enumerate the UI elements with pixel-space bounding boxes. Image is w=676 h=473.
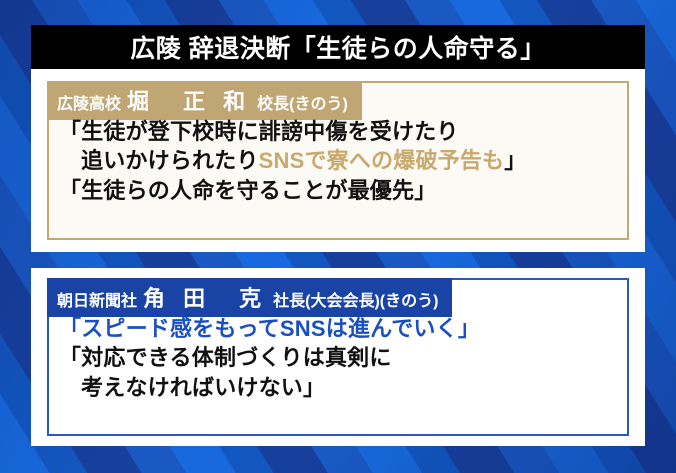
quote-line-plain: 追いかけられたり xyxy=(81,148,259,173)
news-graphic-screen: 広陵 辞退決断「生徒らの人命守る」 広陵高校 堀 正 和 校長(きのう) 「生徒… xyxy=(0,0,676,473)
page-title: 広陵 辞退決断「生徒らの人命守る」 xyxy=(130,29,545,65)
quote-text-block-bottom: 「スピード感をもってSNSは進んでいく」 「対応できる体制づくりは真剣に 考えな… xyxy=(59,314,619,402)
quote-frame-gold: 広陵高校 堀 正 和 校長(きのう) 「生徒が登下校時に誹謗中傷を受けたり 追い… xyxy=(47,81,629,240)
quote-line: 考えなければいけない」 xyxy=(59,373,619,402)
speaker-name: 角 田 克 xyxy=(143,281,267,313)
quote-line: 「対応できる体制づくりは真剣に xyxy=(59,343,619,372)
speaker-org: 広陵高校 xyxy=(57,90,121,114)
quote-line: 「生徒らの人命を守ることが最優先」 xyxy=(59,176,619,205)
quote-card-bottom: 朝日新聞社 角 田 克 社長(大会会長)(きのう) 「スピード感をもってSNSは… xyxy=(31,268,645,446)
quote-line: 追いかけられたりSNSで寮への爆破予告も」 xyxy=(59,146,619,175)
quote-card-top: 広陵 辞退決断「生徒らの人命守る」 広陵高校 堀 正 和 校長(きのう) 「生徒… xyxy=(31,25,645,252)
speaker-role: 校長(きのう) xyxy=(257,90,348,114)
speaker-name: 堀 正 和 xyxy=(127,84,251,116)
speaker-label-tsunoda: 朝日新聞社 角 田 克 社長(大会会長)(きのう) xyxy=(47,278,452,317)
speaker-role: 社長(大会会長)(きのう) xyxy=(273,287,438,311)
headline-bar: 広陵 辞退決断「生徒らの人命守る」 xyxy=(31,25,645,69)
quote-line-close: 」 xyxy=(504,148,526,173)
quote-line-highlight: SNSで寮への爆破予告も xyxy=(259,148,505,173)
quote-line: 「スピード感をもってSNSは進んでいく」 xyxy=(59,314,619,343)
quote-frame-blue: 朝日新聞社 角 田 克 社長(大会会長)(きのう) 「スピード感をもってSNSは… xyxy=(47,278,629,436)
speaker-org: 朝日新聞社 xyxy=(57,287,137,311)
speaker-label-hori: 広陵高校 堀 正 和 校長(きのう) xyxy=(47,81,362,120)
quote-line: 「生徒が登下校時に誹謗中傷を受けたり xyxy=(59,117,619,146)
quote-text-block-top: 「生徒が登下校時に誹謗中傷を受けたり 追いかけられたりSNSで寮への爆破予告も」… xyxy=(59,117,619,205)
